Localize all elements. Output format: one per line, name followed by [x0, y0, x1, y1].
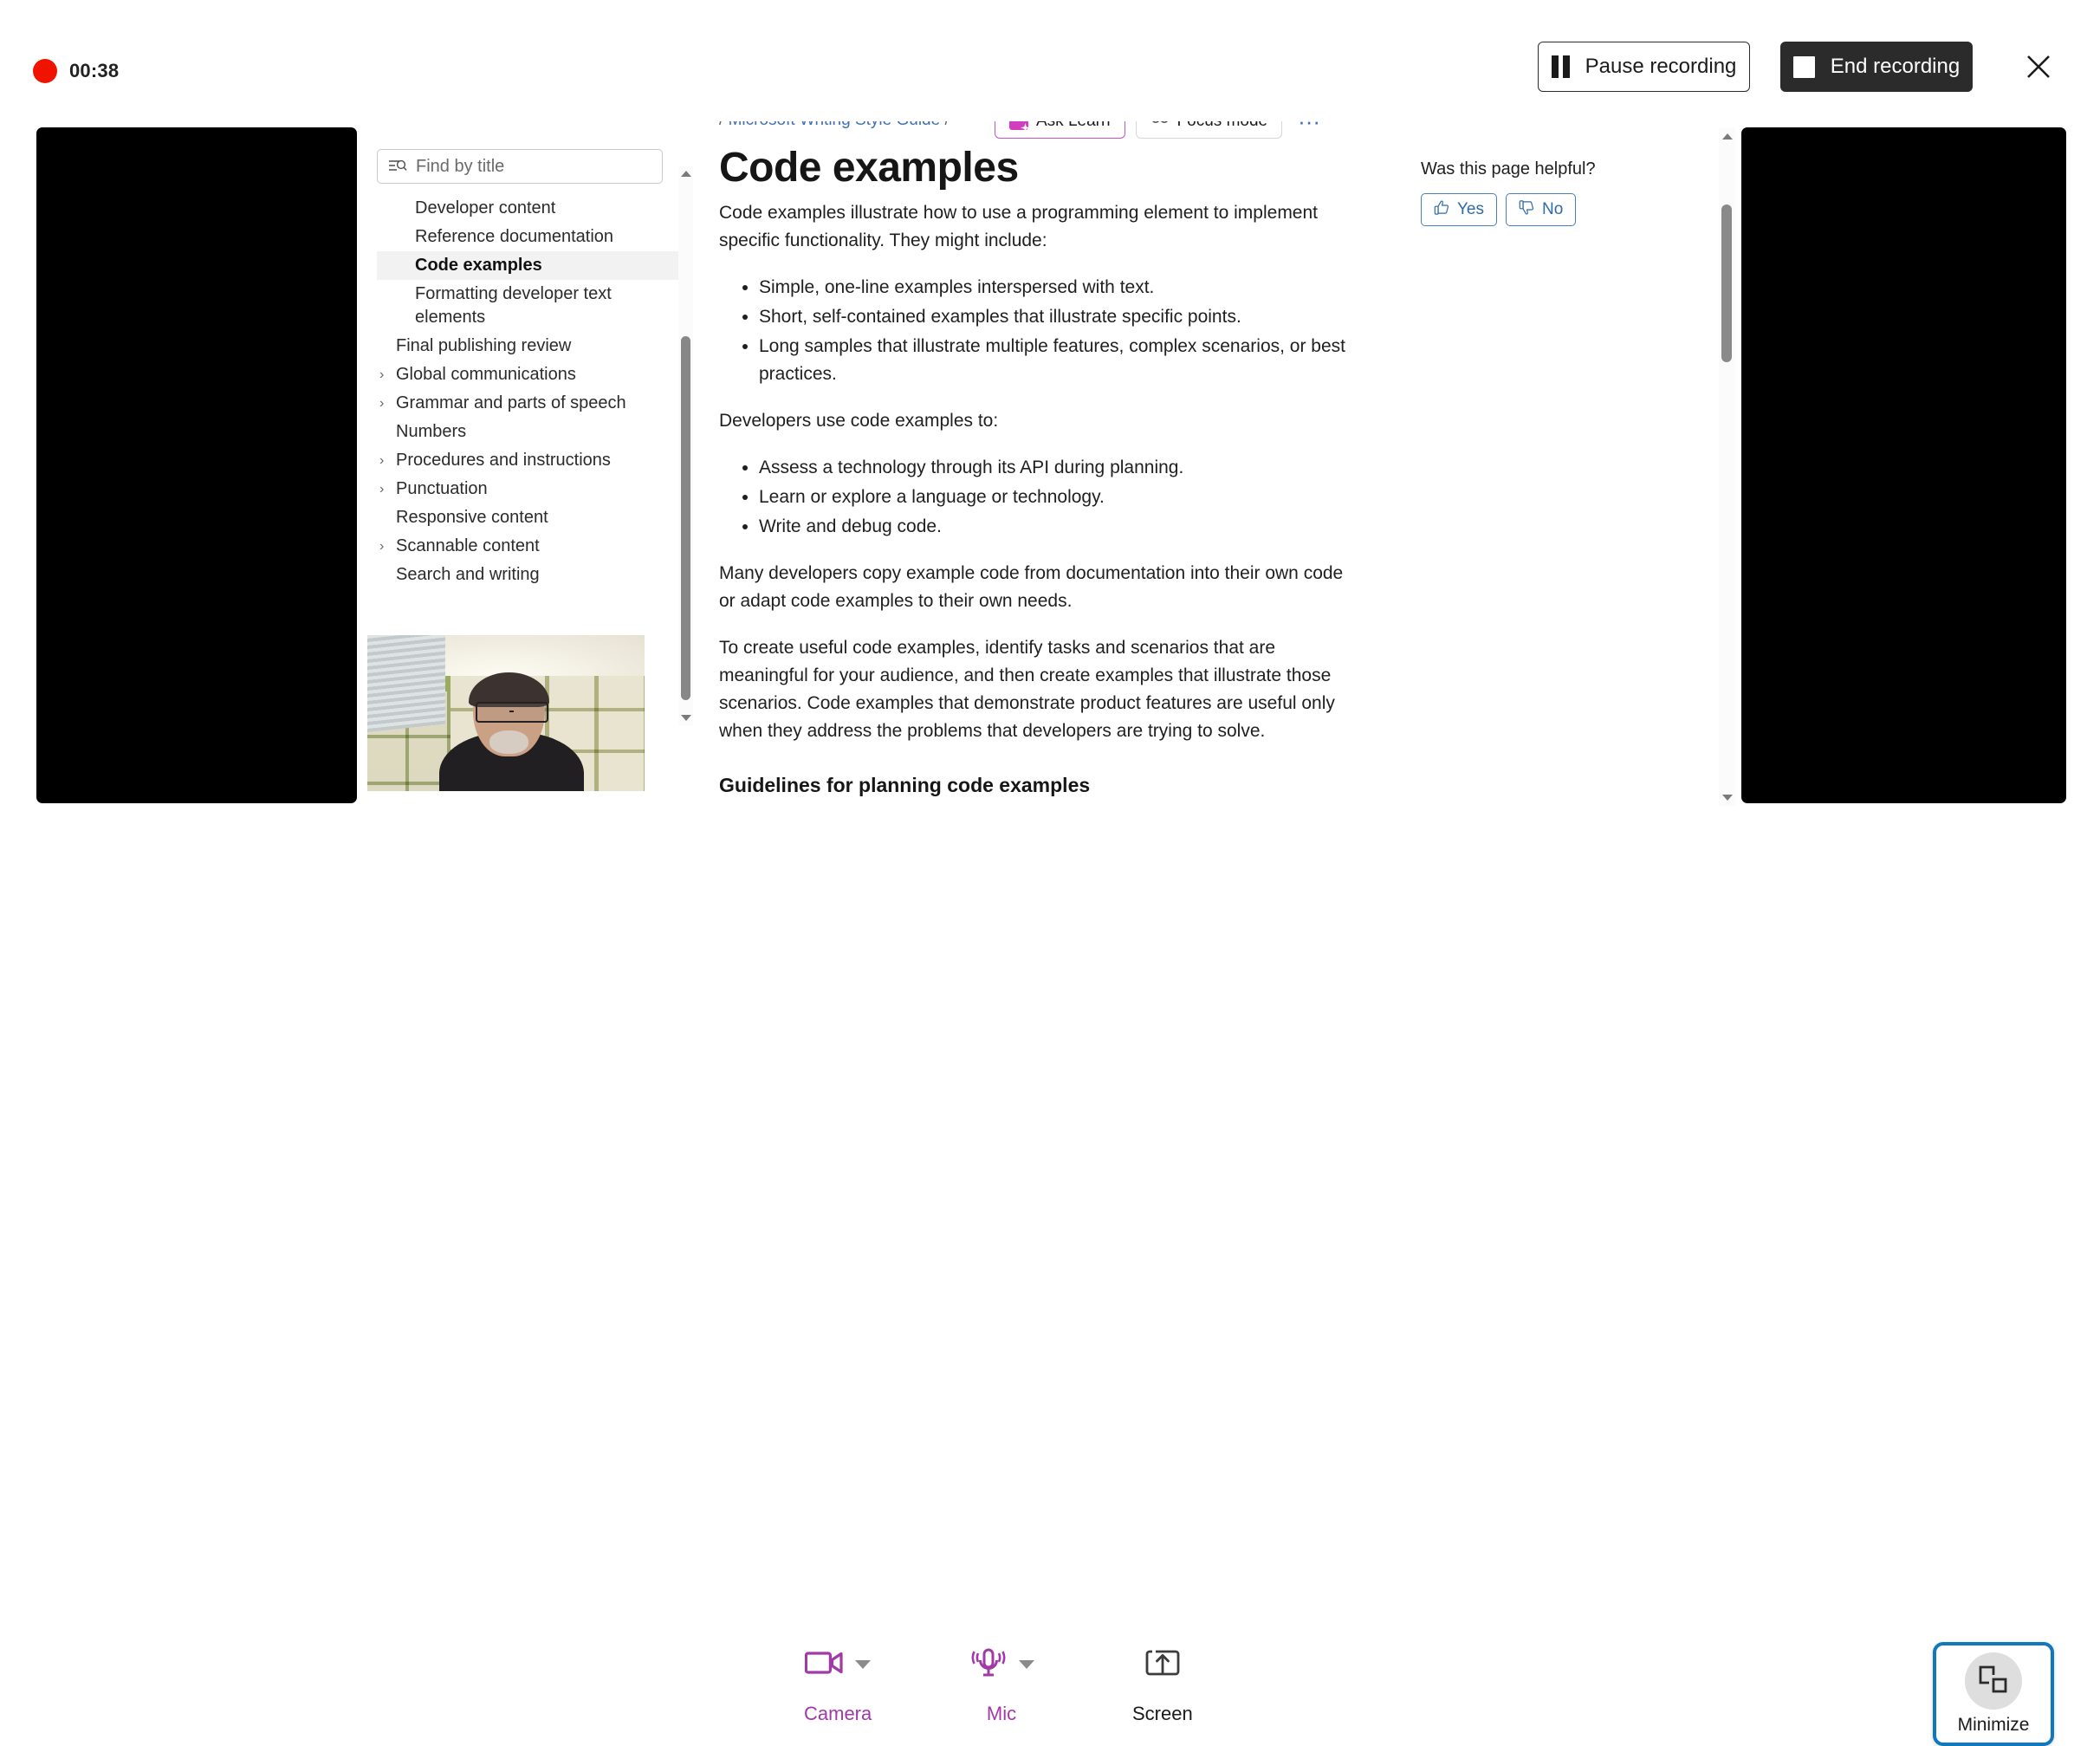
recording-indicator-dot	[33, 59, 57, 83]
webcam-preview[interactable]	[367, 635, 645, 791]
breadcrumb-link-style-guide[interactable]: Microsoft Writing Style Guide	[729, 121, 941, 129]
end-recording-button[interactable]: End recording	[1780, 42, 1973, 92]
toc-item[interactable]: ›Global communications	[377, 360, 678, 389]
chevron-right-icon[interactable]: ›	[377, 363, 396, 386]
microphone-icon[interactable]	[969, 1646, 1008, 1684]
toc-item-label: Formatting developer text elements	[415, 282, 673, 329]
section-heading-planning: Guidelines for planning code examples	[719, 771, 1356, 799]
list-item: Write and debug code.	[759, 513, 1356, 541]
focus-mode-icon	[1150, 121, 1170, 131]
article-body: Code examples illustrate how to use a pr…	[719, 199, 1356, 799]
feedback-no-button[interactable]: No	[1506, 193, 1576, 226]
chevron-right-icon[interactable]: ›	[377, 535, 396, 558]
toc-item-label: Global communications	[396, 363, 673, 386]
camera-options-chevron-down-icon[interactable]	[855, 1660, 871, 1669]
screen-control[interactable]: Screen	[1132, 1642, 1193, 1725]
toc-item[interactable]: ›Numbers	[377, 418, 678, 446]
breadcrumb-separator-leading: /	[719, 121, 723, 129]
find-by-title-placeholder: Find by title	[416, 157, 504, 177]
toc-item[interactable]: ›Search and writing	[377, 561, 678, 589]
feedback-yes-button[interactable]: Yes	[1421, 193, 1497, 226]
paragraph-create-useful: To create useful code examples, identify…	[719, 634, 1356, 745]
sparkle-icon	[1009, 121, 1028, 130]
minimize-button[interactable]: Minimize	[1933, 1642, 2054, 1746]
chevron-right-icon[interactable]: ›	[377, 392, 396, 415]
page-scrollbar-thumb[interactable]	[1721, 204, 1732, 362]
list-item: Long samples that illustrate multiple fe…	[759, 333, 1356, 388]
toc-item-label: Reference documentation	[415, 225, 673, 249]
toc-item[interactable]: ›Responsive content	[377, 503, 678, 532]
video-camera-icon[interactable]	[805, 1649, 845, 1681]
developer-uses-lead: Developers use code examples to:	[719, 407, 1356, 435]
feedback-no-label: No	[1542, 200, 1563, 219]
breadcrumb: / Microsoft Writing Style Guide /	[719, 121, 950, 130]
end-recording-label: End recording	[1831, 55, 1960, 79]
toc-item-label: Search and writing	[396, 563, 673, 587]
minimize-label: Minimize	[1958, 1715, 2030, 1736]
article-action-buttons: Ask Learn Focus mode ···	[995, 121, 1325, 139]
toc-item[interactable]: ›Code examples	[377, 251, 678, 280]
toc-item-label: Developer content	[415, 197, 673, 220]
screen-preview-letterbox-right	[1741, 127, 2066, 803]
camera-control[interactable]: Camera	[804, 1642, 872, 1725]
toc-item-label: Final publishing review	[396, 334, 673, 358]
sidebar-scrollbar-thumb[interactable]	[681, 336, 690, 700]
toc-item-label: Grammar and parts of speech	[396, 392, 673, 415]
thumbs-up-icon	[1434, 199, 1450, 221]
list-item: Simple, one-line examples interspersed w…	[759, 274, 1356, 302]
scroll-down-icon[interactable]	[678, 711, 693, 725]
intro-paragraph: Code examples illustrate how to use a pr…	[719, 199, 1356, 255]
mic-label: Mic	[987, 1703, 1016, 1725]
ask-learn-button[interactable]: Ask Learn	[995, 121, 1125, 139]
page-scroll-down-icon[interactable]	[1719, 789, 1735, 806]
focus-mode-label: Focus mode	[1177, 121, 1268, 131]
toc-item[interactable]: ›Reference documentation	[377, 223, 678, 251]
pause-icon	[1552, 55, 1570, 78]
feedback-question: Was this page helpful?	[1421, 159, 1681, 179]
page-scroll-up-icon[interactable]	[1719, 128, 1735, 145]
share-screen-icon[interactable]	[1145, 1648, 1180, 1682]
close-icon[interactable]	[2019, 48, 2058, 86]
toc-item-label: Code examples	[415, 254, 673, 277]
toc-item[interactable]: ›Scannable content	[377, 532, 678, 561]
page-feedback: Was this page helpful? Yes	[1421, 159, 1681, 226]
screen-preview-letterbox-left	[36, 127, 357, 803]
ask-learn-label: Ask Learn	[1036, 121, 1111, 131]
toc-item-label: Punctuation	[396, 477, 673, 501]
toc-item[interactable]: ›Developer content	[377, 194, 678, 223]
toc-item-label: Procedures and instructions	[396, 449, 673, 472]
toc-item-label: Numbers	[396, 420, 673, 444]
pause-recording-button[interactable]: Pause recording	[1538, 42, 1750, 92]
recorder-controls-bar: Camera Mic	[0, 806, 2100, 982]
paragraph-copy-adapt: Many developers copy example code from d…	[719, 560, 1356, 615]
minimize-icon	[1977, 1663, 2010, 1700]
page-scrollbar[interactable]	[1719, 128, 1735, 806]
recording-elapsed-time: 00:38	[69, 60, 119, 82]
developer-uses-list: Assess a technology through its API duri…	[719, 454, 1356, 541]
code-example-types-list: Simple, one-line examples interspersed w…	[719, 274, 1356, 388]
toc-item[interactable]: ›Procedures and instructions	[377, 446, 678, 475]
find-by-title-icon	[388, 158, 407, 175]
feedback-yes-label: Yes	[1457, 200, 1484, 219]
mic-options-chevron-down-icon[interactable]	[1019, 1660, 1034, 1669]
pause-recording-label: Pause recording	[1585, 55, 1737, 79]
focus-mode-button[interactable]: Focus mode	[1136, 121, 1283, 139]
toc-item-label: Scannable content	[396, 535, 673, 558]
page-title: Code examples	[719, 144, 1019, 191]
list-item: Learn or explore a language or technolog…	[759, 484, 1356, 511]
toc-item[interactable]: ›Final publishing review	[377, 332, 678, 360]
toc-item[interactable]: ›Punctuation	[377, 475, 678, 503]
feedback-buttons: Yes No	[1421, 193, 1681, 226]
chevron-right-icon[interactable]: ›	[377, 477, 396, 501]
list-item: Short, self-contained examples that illu…	[759, 303, 1356, 331]
scroll-up-icon[interactable]	[678, 166, 693, 181]
recording-bar: 00:38 Pause recording End recording	[0, 0, 2100, 110]
recording-timer: 00:38	[33, 59, 119, 83]
sidebar-scrollbar[interactable]	[678, 166, 693, 725]
mic-control[interactable]: Mic	[969, 1642, 1034, 1725]
thumbs-down-icon	[1519, 199, 1535, 221]
chevron-right-icon[interactable]: ›	[377, 449, 396, 472]
stop-icon	[1793, 56, 1815, 78]
toc-item-label: Responsive content	[396, 506, 673, 529]
toc-item[interactable]: ›Formatting developer text elements	[377, 280, 678, 332]
find-by-title-input[interactable]: Find by title	[377, 149, 663, 184]
screen-label: Screen	[1132, 1703, 1193, 1725]
toc-item[interactable]: ›Grammar and parts of speech	[377, 389, 678, 418]
camera-label: Camera	[804, 1703, 872, 1725]
breadcrumb-separator-trailing: /	[944, 121, 949, 129]
list-item: Assess a technology through its API duri…	[759, 454, 1356, 482]
more-options-icon[interactable]: ···	[1293, 121, 1325, 134]
